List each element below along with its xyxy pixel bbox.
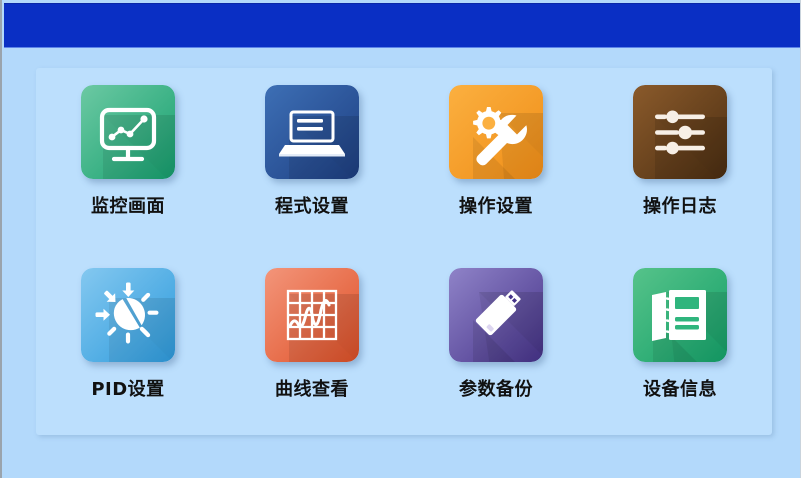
menu-tile-program-settings[interactable]: 程式设置 bbox=[237, 85, 387, 235]
menu-tile-label: 操作设置 bbox=[459, 192, 533, 218]
menu-tile-label: 程式设置 bbox=[275, 192, 349, 218]
menu-tile-label: 参数备份 bbox=[459, 375, 533, 401]
menu-tile-label: 操作日志 bbox=[643, 192, 717, 218]
menu-tile-curve-view[interactable]: 曲线查看 bbox=[237, 268, 387, 418]
menu-tile-parameter-backup[interactable]: 参数备份 bbox=[421, 268, 571, 418]
menu-tile-label: 监控画面 bbox=[91, 192, 165, 218]
brightness-sun-icon bbox=[81, 268, 175, 362]
gear-wrench-icon bbox=[449, 85, 543, 179]
laptop-icon bbox=[265, 85, 359, 179]
grid-curve-chart-icon bbox=[265, 268, 359, 362]
usb-drive-icon bbox=[449, 268, 543, 362]
menu-tile-operation-log[interactable]: 操作日志 bbox=[605, 85, 755, 235]
menu-tile-pid-settings[interactable]: PID设置 bbox=[53, 268, 203, 418]
menu-tile-label: 设备信息 bbox=[643, 375, 717, 401]
main-menu-panel: 监控画面 bbox=[36, 68, 772, 435]
notebook-icon bbox=[633, 268, 727, 362]
menu-tile-label: PID设置 bbox=[91, 375, 164, 401]
menu-tile-operation-settings[interactable]: 操作设置 bbox=[421, 85, 571, 235]
application-window: 监控画面 bbox=[0, 0, 801, 478]
menu-tile-device-info[interactable]: 设备信息 bbox=[605, 268, 755, 418]
menu-tile-grid: 监控画面 bbox=[36, 68, 772, 435]
title-bar bbox=[4, 3, 801, 48]
monitor-chart-icon bbox=[81, 85, 175, 179]
sliders-icon bbox=[633, 85, 727, 179]
menu-tile-label: 曲线查看 bbox=[275, 375, 349, 401]
menu-tile-monitoring-screen[interactable]: 监控画面 bbox=[53, 85, 203, 235]
